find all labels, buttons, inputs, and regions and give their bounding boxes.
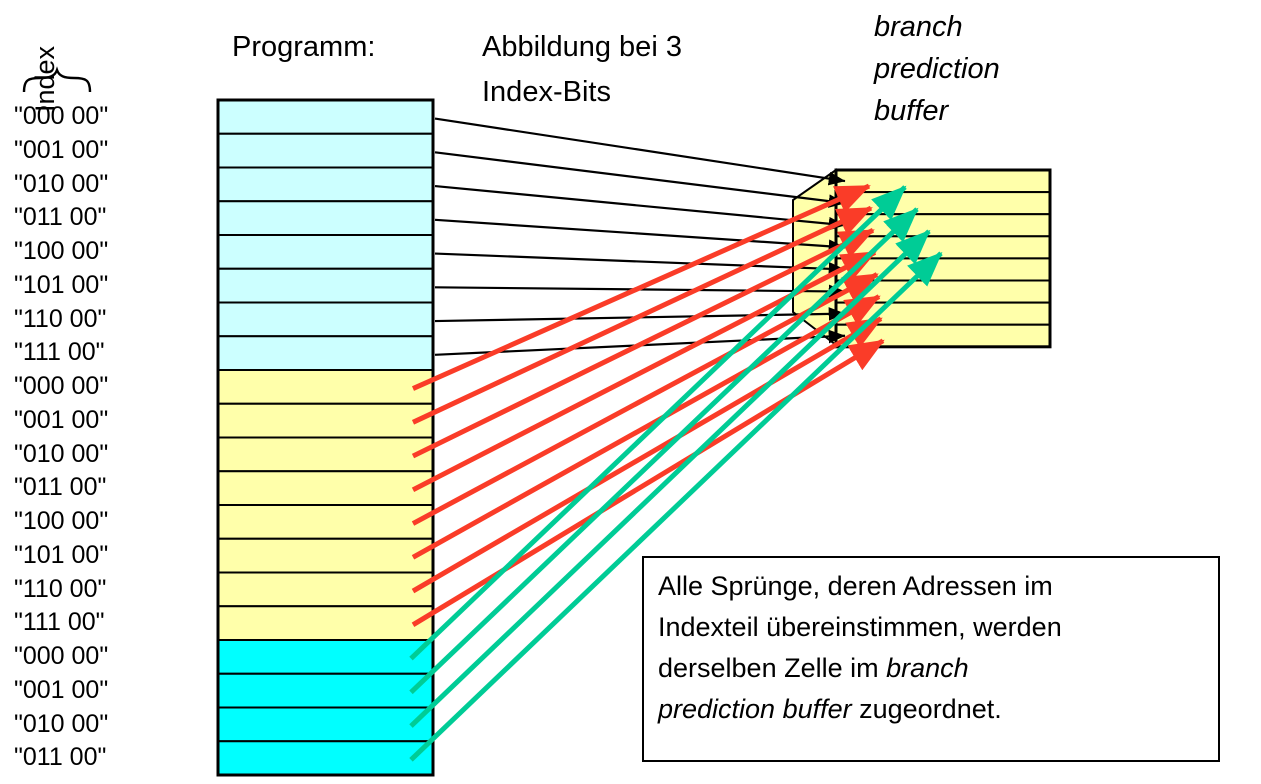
program-row [218, 235, 433, 269]
index-address-label: "110 00" [14, 307, 106, 332]
index-address-label: "101 00" [14, 543, 108, 568]
program-row [218, 303, 433, 337]
index-address-label: "111 00" [14, 340, 105, 365]
program-row [218, 168, 433, 202]
program-row [218, 471, 433, 505]
program-row [218, 674, 433, 708]
index-address-label: "000 00" [14, 104, 108, 129]
program-row [218, 438, 433, 472]
mapping-arrow [435, 254, 845, 270]
index-address-label: "100 00" [14, 509, 108, 534]
program-row [218, 539, 433, 573]
program-row [218, 269, 433, 303]
index-address-label: "000 00" [14, 644, 108, 669]
index-address-label: "101 00" [14, 273, 108, 298]
diagram-canvas: Index Programm: Abbildung bei 3 Index-Bi… [0, 0, 1261, 784]
note-line-4-italic: prediction buffer [658, 694, 852, 724]
index-address-label: "011 00" [14, 745, 106, 770]
note-line-4-plain: zugeordnet. [852, 694, 1002, 724]
index-address-label: "010 00" [14, 172, 108, 197]
index-address-label: "100 00" [14, 239, 108, 264]
program-row [218, 336, 433, 370]
index-address-label: "110 00" [14, 577, 106, 602]
program-row [218, 100, 433, 134]
index-address-label: "000 00" [14, 374, 108, 399]
mapping-arrows-block1 [435, 119, 845, 355]
note-line-2: Indexteil übereinstimmen, werden [658, 607, 1204, 648]
program-row [218, 201, 433, 235]
index-address-label: "001 00" [14, 678, 108, 703]
index-brace-icon [24, 70, 90, 92]
mapping-arrow [435, 119, 845, 181]
mapping-arrow [413, 297, 879, 558]
note-line-3-plain: derselben Zelle im [658, 653, 886, 683]
index-address-label: "001 00" [14, 408, 108, 433]
mapping-arrow [435, 186, 845, 225]
program-row [218, 640, 433, 674]
program-row [218, 573, 433, 607]
index-address-label: "011 00" [14, 205, 106, 230]
program-row [218, 134, 433, 168]
note-line-4: prediction buffer zugeordnet. [658, 689, 1204, 730]
index-address-label: "011 00" [14, 475, 106, 500]
program-row [218, 404, 433, 438]
index-address-label: "111 00" [14, 610, 105, 635]
explanation-note-box: Alle Sprünge, deren Adressen im Indextei… [642, 556, 1220, 762]
program-row [218, 741, 433, 775]
index-address-label: "010 00" [14, 442, 108, 467]
index-address-label: "001 00" [14, 138, 108, 163]
program-row [218, 708, 433, 742]
note-line-3: derselben Zelle im branch [658, 648, 1204, 689]
note-line-1: Alle Sprünge, deren Adressen im [658, 566, 1204, 607]
index-address-label: "010 00" [14, 712, 108, 737]
program-row [218, 370, 433, 404]
note-line-3-italic: branch [886, 653, 969, 683]
mapping-arrow [435, 152, 845, 203]
program-table [218, 100, 433, 775]
program-row [218, 505, 433, 539]
program-row [218, 606, 433, 640]
mapping-arrow [413, 230, 873, 456]
